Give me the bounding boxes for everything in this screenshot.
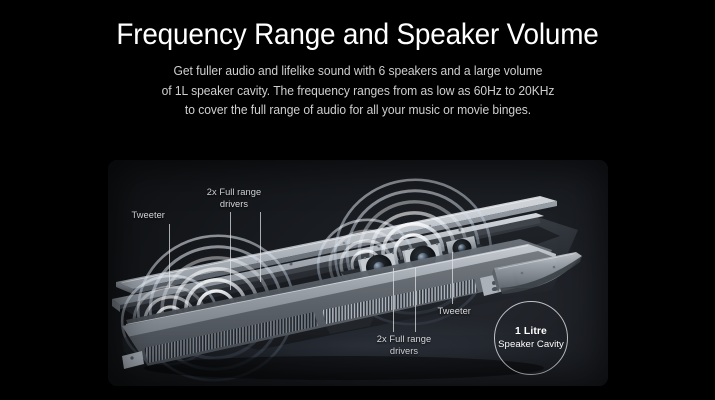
callout-full-range-bottom: 2x Full range drivers (368, 334, 440, 359)
callout-tweeter-bottom-right: Tweeter (438, 306, 471, 318)
header-block: Frequency Range and Speaker Volume Get f… (0, 0, 715, 121)
description-line-2: of 1L speaker cavity. The frequency rang… (108, 82, 607, 102)
leader-line-full-range-bottom-b (415, 268, 416, 332)
callout-tweeter-top-left: Tweeter (132, 210, 165, 222)
callout-full-range-top-line-1: 2x Full range (198, 187, 270, 199)
callout-full-range-top: 2x Full range drivers (198, 187, 270, 212)
cavity-badge-caption: Speaker Cavity (498, 338, 564, 351)
description-line-1: Get fuller audio and lifelike sound with… (108, 62, 607, 82)
leader-line-tweeter-bottom-right (452, 252, 453, 304)
description-line-3: to cover the full range of audio for all… (108, 101, 607, 121)
page-title: Frequency Range and Speaker Volume (25, 0, 690, 52)
callout-full-range-bottom-line-2: drivers (368, 346, 440, 358)
leader-line-tweeter-top-left (169, 224, 170, 288)
callout-tweeter-top-left-line-1: Tweeter (132, 210, 165, 222)
product-image-panel: Tweeter 2x Full range drivers 2x Full ra… (108, 160, 608, 386)
callout-tweeter-bottom-right-line-1: Tweeter (438, 306, 471, 318)
leader-line-full-range-top-a (230, 212, 231, 290)
page-description: Get fuller audio and lifelike sound with… (108, 52, 607, 121)
callout-full-range-top-line-2: drivers (198, 199, 270, 211)
callout-full-range-bottom-line-1: 2x Full range (368, 334, 440, 346)
cavity-badge-value: 1 Litre (515, 325, 547, 338)
leader-line-full-range-top-b (260, 212, 261, 282)
page-root: Frequency Range and Speaker Volume Get f… (0, 0, 715, 400)
leader-line-full-range-bottom-a (393, 268, 394, 332)
cavity-volume-badge: 1 Litre Speaker Cavity (494, 301, 568, 375)
